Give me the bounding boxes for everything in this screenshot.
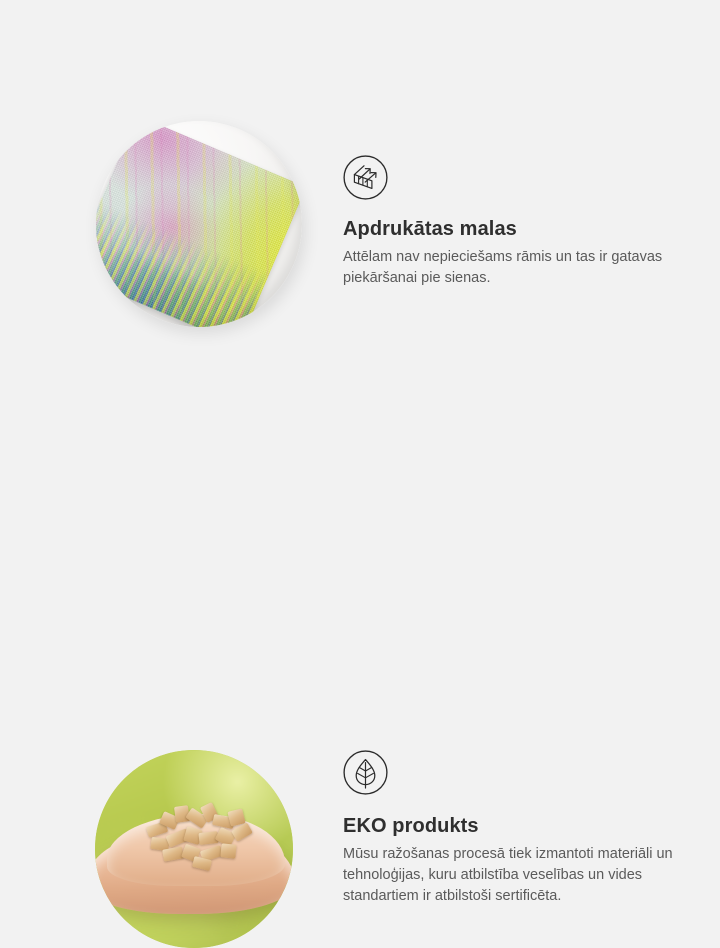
feature-block-printed-edges: Apdrukātas malas Attēlam nav nepieciešam… <box>0 0 720 360</box>
product-features-page: Apdrukātas malas Attēlam nav nepieciešam… <box>0 0 720 720</box>
feature-text-printed-edges: Apdrukātas malas Attēlam nav nepieciešam… <box>343 155 693 289</box>
disc-edge-shading <box>96 121 302 327</box>
feature-text-eco-product: EKO produkts Mūsu ražošanas procesā tiek… <box>343 750 693 907</box>
wrapped-canvas-edges-icon <box>343 155 388 200</box>
leaf-icon <box>343 750 388 795</box>
feature-title: EKO produkts <box>343 815 693 838</box>
feature-description: Mūsu ražošanas procesā tiek izmantoti ma… <box>343 844 677 907</box>
feature-description: Attēlam nav nepieciešams rāmis un tas ir… <box>343 247 677 289</box>
feature-block-eco-product: EKO produkts Mūsu ražošanas procesā tiek… <box>0 360 720 720</box>
feature-title: Apdrukātas malas <box>343 218 693 241</box>
wood-chips-pile <box>145 802 257 870</box>
printed-canvas-corner-photo <box>96 121 302 327</box>
hands-holding-wood-chips-photo <box>95 750 293 948</box>
